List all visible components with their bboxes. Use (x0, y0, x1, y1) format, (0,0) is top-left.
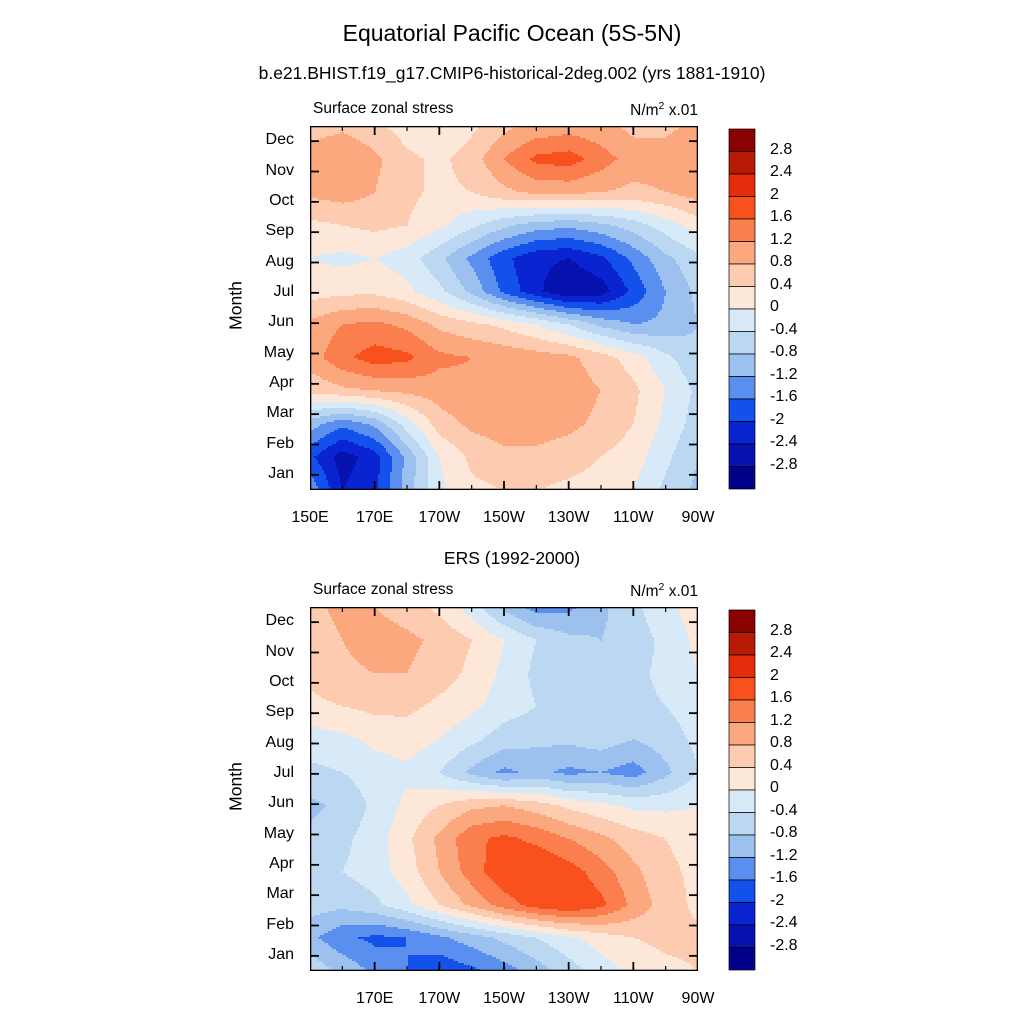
month-tick-label: Dec (224, 131, 294, 149)
month-tick-label: Oct (224, 673, 294, 691)
bottom-panel-plot-area (310, 607, 698, 971)
bottom-panel-title: ERS (1992-2000) (0, 548, 1024, 569)
month-tick-label: Jul (224, 764, 294, 782)
colorbar-tick-label: 0.8 (770, 253, 830, 271)
colorbar-tick-label: 2.4 (770, 644, 830, 662)
bottom-panel-contour-field (310, 607, 698, 971)
units-base: N/m (630, 583, 658, 600)
colorbar-tick-label: 1.2 (770, 231, 830, 249)
colorbar-tick-label: -0.8 (770, 824, 830, 842)
month-tick-label: Apr (224, 374, 294, 392)
colorbar-tick-label: -1.6 (770, 388, 830, 406)
month-tick-label: Nov (224, 643, 294, 661)
bottom-panel-colorbar (728, 609, 756, 971)
page-title: Equatorial Pacific Ocean (5S-5N) (0, 20, 1024, 47)
month-tick-label: Feb (224, 435, 294, 453)
units-base: N/m (630, 102, 658, 119)
units-tail: x.01 (664, 583, 698, 600)
colorbar-tick-label: 1.2 (770, 712, 830, 730)
month-tick-label: Mar (224, 885, 294, 903)
longitude-tick-label: 90W (653, 990, 743, 1008)
month-tick-label: Aug (224, 734, 294, 752)
month-tick-label: Feb (224, 916, 294, 934)
longitude-tick-label: 90W (653, 509, 743, 527)
colorbar-tick-label: 2 (770, 667, 830, 685)
colorbar-tick-label: 1.6 (770, 689, 830, 707)
colorbar-tick-label: -1.2 (770, 847, 830, 865)
month-tick-label: Jan (224, 465, 294, 483)
month-tick-label: Jul (224, 283, 294, 301)
colorbar-tick-label: 2.8 (770, 622, 830, 640)
top-panel-colorbar (728, 128, 756, 490)
colorbar-tick-label: 2.8 (770, 141, 830, 159)
colorbar-tick-label: -0.4 (770, 802, 830, 820)
month-tick-label: May (224, 344, 294, 362)
colorbar-tick-label: 2 (770, 186, 830, 204)
month-tick-label: May (224, 825, 294, 843)
month-tick-label: Dec (224, 612, 294, 630)
month-tick-label: Jun (224, 794, 294, 812)
bottom-panel-header-units: N/m2 x.01 (520, 581, 698, 601)
colorbar-tick-label: -0.4 (770, 321, 830, 339)
colorbar-tick-label: 0.4 (770, 276, 830, 294)
month-tick-label: Apr (224, 855, 294, 873)
colorbar-tick-label: -2.8 (770, 937, 830, 955)
colorbar-tick-label: 0.8 (770, 734, 830, 752)
month-tick-label: Sep (224, 703, 294, 721)
colorbar-tick-label: -1.6 (770, 869, 830, 887)
month-tick-label: Jan (224, 946, 294, 964)
top-panel-plot-area (310, 126, 698, 490)
colorbar-swatches (728, 609, 756, 971)
colorbar-tick-label: 2.4 (770, 163, 830, 181)
month-tick-label: Mar (224, 404, 294, 422)
month-tick-label: Aug (224, 253, 294, 271)
colorbar-tick-label: 1.6 (770, 208, 830, 226)
colorbar-tick-label: -2 (770, 892, 830, 910)
colorbar-tick-label: -1.2 (770, 366, 830, 384)
units-tail: x.01 (664, 102, 698, 119)
month-tick-label: Nov (224, 162, 294, 180)
colorbar-tick-label: 0 (770, 779, 830, 797)
colorbar-tick-label: -0.8 (770, 343, 830, 361)
month-tick-label: Oct (224, 192, 294, 210)
colorbar-tick-label: -2.8 (770, 456, 830, 474)
month-tick-label: Jun (224, 313, 294, 331)
colorbar-swatches (728, 128, 756, 490)
colorbar-tick-label: -2 (770, 411, 830, 429)
top-panel-header-units: N/m2 x.01 (520, 100, 698, 120)
colorbar-tick-label: -2.4 (770, 433, 830, 451)
colorbar-tick-label: 0 (770, 298, 830, 316)
month-tick-label: Sep (224, 222, 294, 240)
colorbar-tick-label: 0.4 (770, 757, 830, 775)
top-panel-contour-field (310, 126, 698, 490)
top-panel-title: b.e21.BHIST.f19_g17.CMIP6-historical-2de… (0, 63, 1024, 84)
colorbar-tick-label: -2.4 (770, 914, 830, 932)
